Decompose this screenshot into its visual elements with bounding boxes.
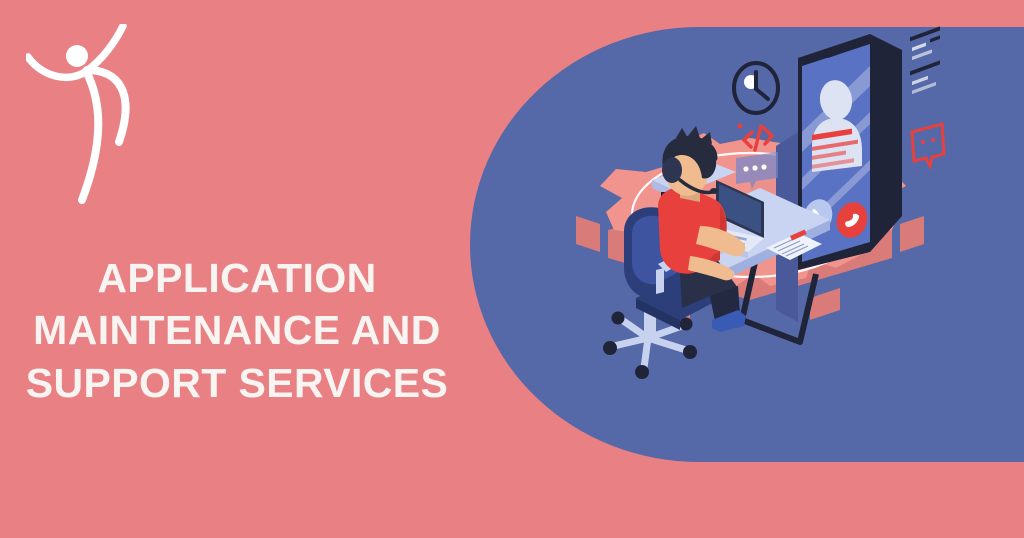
smartphone [776, 34, 902, 322]
headline-line-1: APPLICATION [0, 252, 474, 304]
floating-icons-right [910, 26, 944, 166]
chair-base [603, 312, 697, 380]
code-lines [910, 26, 940, 94]
chat-bubble-outline-icon [912, 124, 944, 166]
logo-head-dot [66, 45, 88, 67]
support-illustration [540, 20, 960, 440]
headline-line-3: SUPPORT SERVICES [0, 357, 474, 409]
floating-icons-left [734, 63, 778, 189]
headline-line-2: MAINTENANCE AND [0, 304, 474, 356]
brand-logo [26, 24, 158, 216]
logo-leg-front [82, 71, 98, 200]
clock-icon [734, 63, 778, 113]
headline: APPLICATION MAINTENANCE AND SUPPORT SERV… [0, 252, 474, 409]
promo-banner: APPLICATION MAINTENANCE AND SUPPORT SERV… [0, 0, 1024, 538]
